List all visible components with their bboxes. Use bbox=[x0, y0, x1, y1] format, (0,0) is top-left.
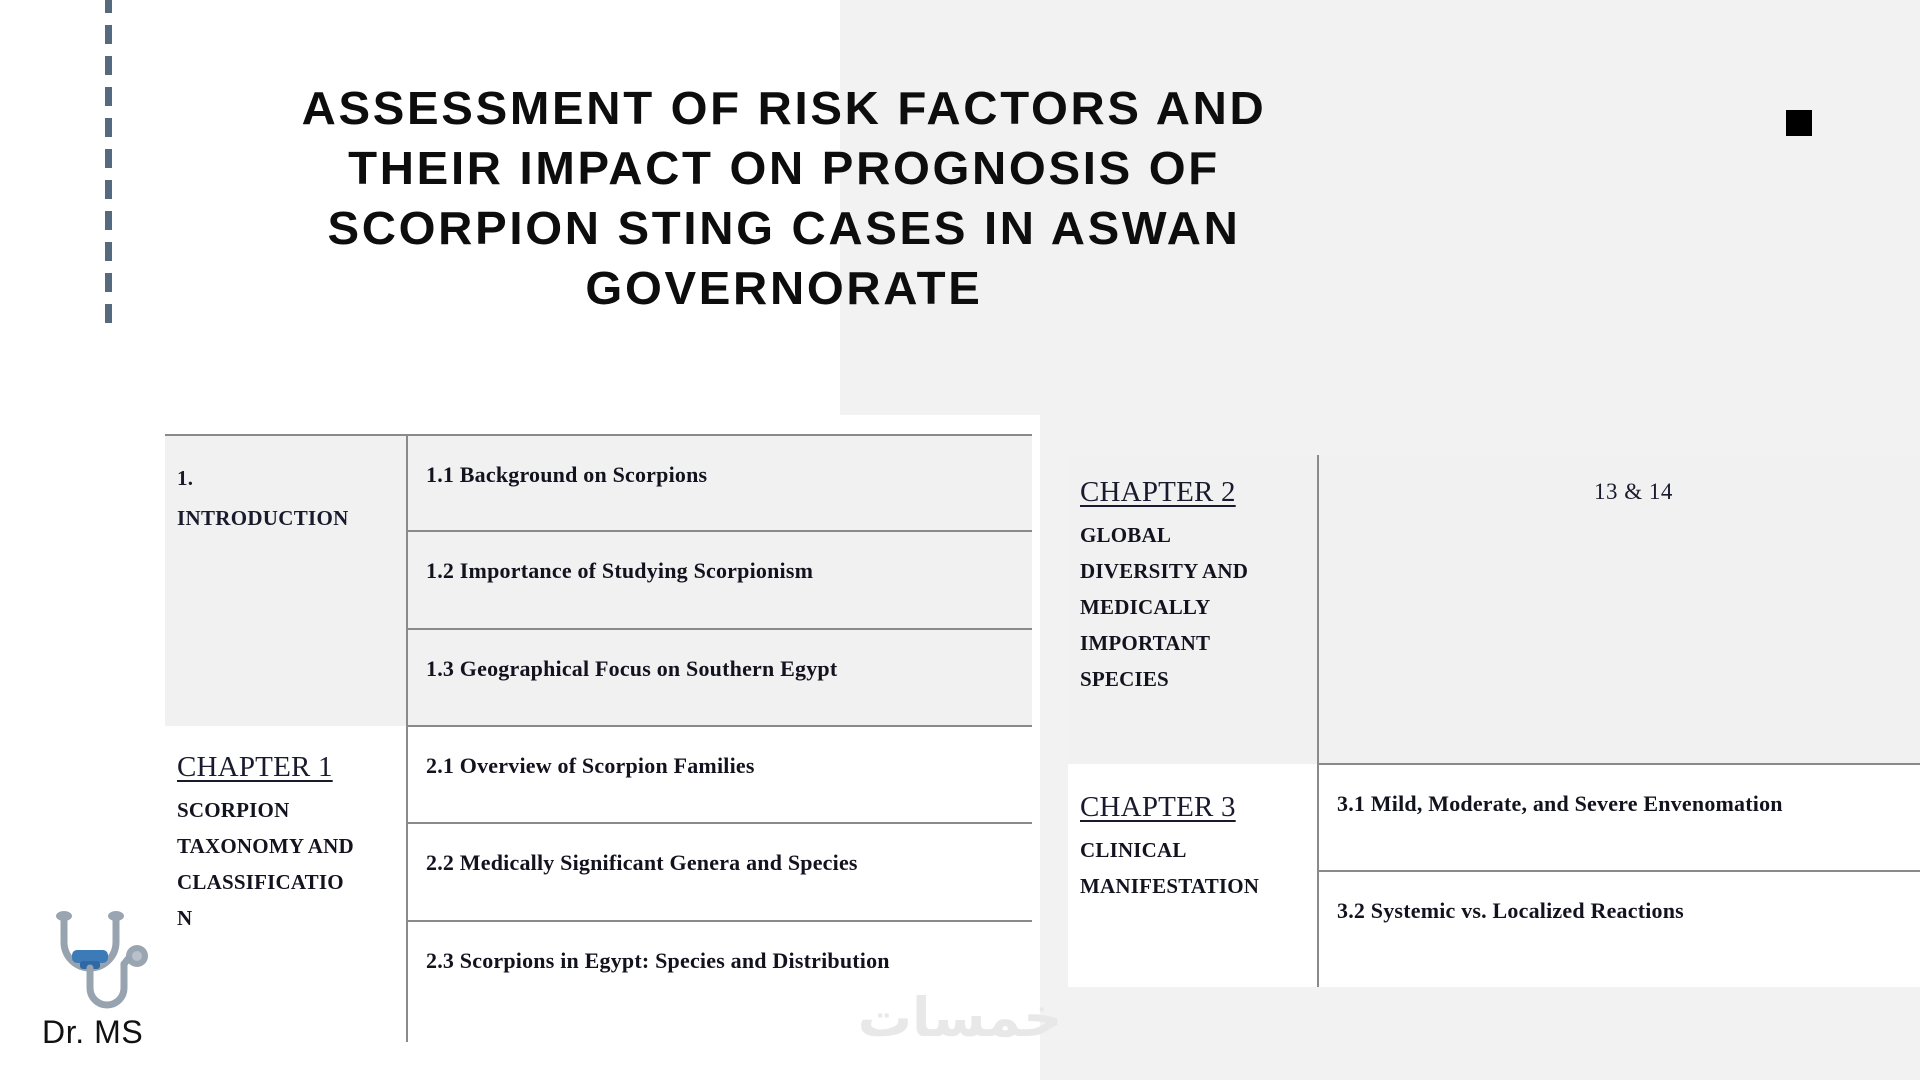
left-chapter-1-header-cell: CHAPTER 1 SCORPION TAXONOMY AND CLASSIFI… bbox=[165, 726, 407, 1042]
table-row: CHAPTER 1 SCORPION TAXONOMY AND CLASSIFI… bbox=[165, 726, 1032, 823]
list-item: 1.3 Geographical Focus on Southern Egypt bbox=[426, 656, 1022, 682]
chapter-heading: CHAPTER 2 bbox=[1080, 475, 1305, 509]
right-chapter-2-header-cell: CHAPTER 2 GLOBAL DIVERSITY AND MEDICALLY… bbox=[1068, 455, 1318, 764]
list-item: 2.2 Medically Significant Genera and Spe… bbox=[426, 850, 1022, 876]
chapter-subtitle-line: CLASSIFICATIO bbox=[177, 864, 392, 900]
chapter-subtitle-line: DIVERSITY AND bbox=[1080, 553, 1305, 589]
chapter-subtitle-line: SPECIES bbox=[1080, 661, 1305, 697]
chapter-heading: CHAPTER 1 bbox=[177, 750, 392, 784]
dashed-accent-line bbox=[105, 0, 112, 334]
left-item-cell: 2.2 Medically Significant Genera and Spe… bbox=[407, 823, 1032, 920]
list-item: 1.2 Importance of Studying Scorpionism bbox=[426, 558, 1022, 584]
slide-title: Assessment of risk factors and their imp… bbox=[220, 78, 1349, 318]
chapter-subtitle-line: MEDICALLY bbox=[1080, 589, 1305, 625]
list-item: 2.1 Overview of Scorpion Families bbox=[426, 753, 1022, 779]
chapter-subtitle-line: N bbox=[177, 900, 392, 936]
right-item-cell: 3.2 Systemic vs. Localized Reactions bbox=[1318, 871, 1920, 987]
left-item-cell: 2.3 Scorpions in Egypt: Species and Dist… bbox=[407, 921, 1032, 1042]
square-marker-icon bbox=[1786, 110, 1812, 136]
left-item-cell: 1.1 Background on Scorpions bbox=[407, 435, 1032, 531]
right-chapter-3-header-cell: CHAPTER 3 CLINICAL MANIFESTATION bbox=[1068, 764, 1318, 987]
left-item-cell: 1.3 Geographical Focus on Southern Egypt bbox=[407, 629, 1032, 726]
left-item-cell: 1.2 Importance of Studying Scorpionism bbox=[407, 531, 1032, 628]
stethoscope-icon bbox=[42, 906, 162, 1016]
chapter-subtitle-line: TAXONOMY AND bbox=[177, 828, 392, 864]
contents-table-left: 1. INTRODUCTION 1.1 Background on Scorpi… bbox=[165, 434, 1032, 1042]
chapter-heading: CHAPTER 3 bbox=[1080, 790, 1305, 824]
contents-table-right: CHAPTER 2 GLOBAL DIVERSITY AND MEDICALLY… bbox=[1068, 455, 1920, 987]
slide-canvas: Assessment of risk factors and their imp… bbox=[0, 0, 1920, 1080]
chapter-subtitle-line: GLOBAL bbox=[1080, 517, 1305, 553]
list-item: 1.1 Background on Scorpions bbox=[426, 462, 1022, 488]
left-section-1-header-cell: 1. INTRODUCTION bbox=[165, 435, 407, 726]
author-byline: Dr. MS bbox=[42, 1014, 143, 1051]
left-item-cell: 2.1 Overview of Scorpion Families bbox=[407, 726, 1032, 823]
chapter-subtitle-line: SCORPION bbox=[177, 792, 392, 828]
list-item: 3.1 Mild, Moderate, and Severe Envenomat… bbox=[1337, 791, 1920, 817]
chapter-subtitle-line: IMPORTANT bbox=[1080, 625, 1305, 661]
chapter-subtitle-line: CLINICAL bbox=[1080, 832, 1305, 868]
chapter-subtitle-line: MANIFESTATION bbox=[1080, 868, 1305, 904]
table-row: CHAPTER 2 GLOBAL DIVERSITY AND MEDICALLY… bbox=[1068, 455, 1920, 764]
table-row: 1. INTRODUCTION 1.1 Background on Scorpi… bbox=[165, 435, 1032, 531]
list-item: 2.3 Scorpions in Egypt: Species and Dist… bbox=[426, 948, 1022, 974]
section-name: INTRODUCTION bbox=[177, 498, 392, 538]
right-item-cell: 3.1 Mild, Moderate, and Severe Envenomat… bbox=[1318, 764, 1920, 871]
table-row: CHAPTER 3 CLINICAL MANIFESTATION 3.1 Mil… bbox=[1068, 764, 1920, 871]
right-page-ref-cell: 13 & 14 bbox=[1318, 455, 1920, 764]
page-reference: 13 & 14 bbox=[1319, 455, 1920, 505]
section-number: 1. bbox=[177, 458, 392, 498]
list-item: 3.2 Systemic vs. Localized Reactions bbox=[1337, 898, 1920, 924]
